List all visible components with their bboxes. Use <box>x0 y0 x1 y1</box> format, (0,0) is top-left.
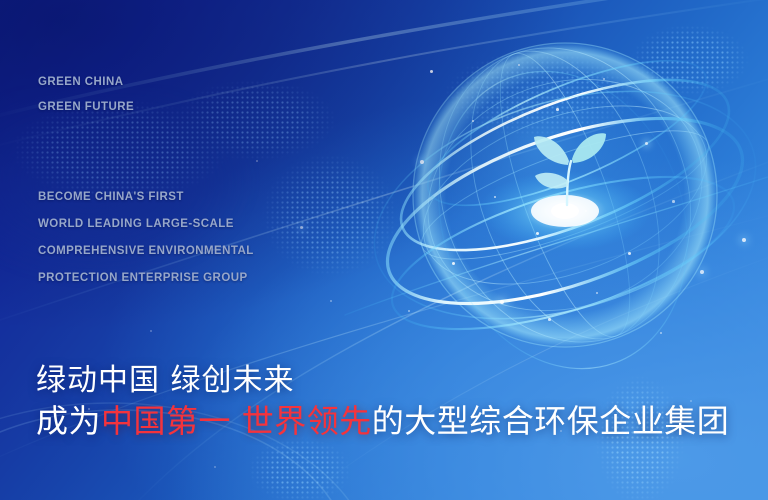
headline-line-2: 成为中国第一 世界领先的大型综合环保企业集团 <box>36 400 729 442</box>
tagline-top: GREEN CHINA GREEN FUTURE <box>38 70 134 120</box>
tagline-bottom-line-4: PROTECTION ENTERPRISE GROUP <box>38 265 254 292</box>
headline-suffix: 的大型综合环保企业集团 <box>372 402 730 440</box>
headline-accent: 中国第一 世界领先 <box>101 402 372 440</box>
orbit-rings <box>345 32 768 404</box>
headline-line-1: 绿动中国 绿创未来 <box>36 362 729 400</box>
tagline-bottom-line-2: WORLD LEADING LARGE-SCALE <box>38 211 254 238</box>
tagline-bottom: BECOME CHINA'S FIRST WORLD LEADING LARGE… <box>38 184 254 292</box>
tagline-top-line-2: GREEN FUTURE <box>38 95 134 120</box>
headline: 绿动中国 绿创未来 成为中国第一 世界领先的大型综合环保企业集团 <box>36 362 729 442</box>
core-glow <box>479 171 651 251</box>
wireframe-globe <box>385 15 745 375</box>
hero-banner: GREEN CHINA GREEN FUTURE BECOME CHINA'S … <box>0 0 768 500</box>
sprout-icon <box>534 133 606 205</box>
tagline-bottom-line-3: COMPREHENSIVE ENVIRONMENTAL <box>38 238 254 265</box>
tagline-bottom-line-1: BECOME CHINA'S FIRST <box>38 184 254 211</box>
headline-prefix: 成为 <box>36 402 101 440</box>
tagline-top-line-1: GREEN CHINA <box>38 70 134 95</box>
